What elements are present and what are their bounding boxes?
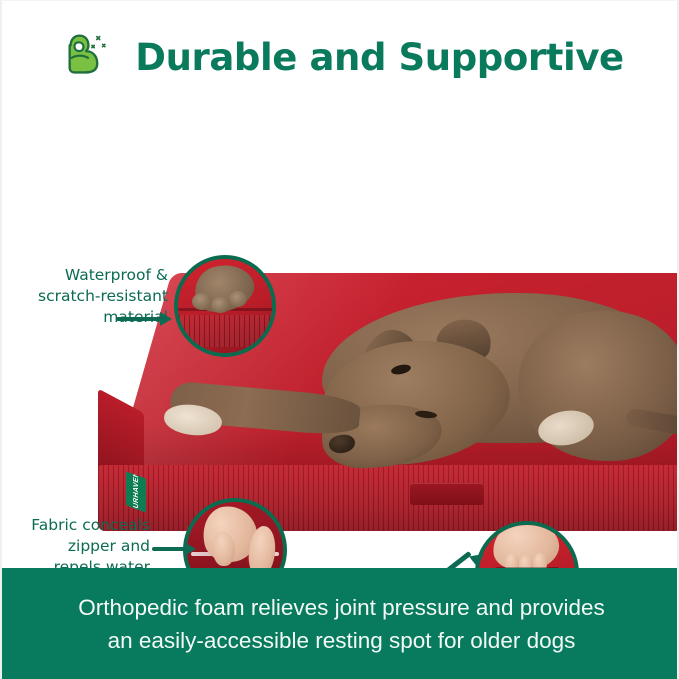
- arrow-shaft: [152, 547, 186, 551]
- callout-line: zipper and: [10, 536, 150, 557]
- inset-finger: [213, 532, 235, 566]
- brand-tag-label: FURHAVEN: [133, 471, 140, 512]
- header: Durable and Supportive: [2, 1, 679, 113]
- inset-paw-toe: [192, 293, 212, 310]
- flexed-bicep-icon: [59, 24, 121, 86]
- infographic-page: Durable and Supportive FURHAVEN: [0, 0, 679, 679]
- arrow-head: [184, 542, 196, 556]
- banner-line-2: an easily-accessible resting spot for ol…: [108, 624, 576, 657]
- callout-waterproof-arrow: [116, 311, 174, 327]
- product-photo: FURHAVEN: [2, 113, 679, 569]
- inset-paw-toe: [211, 297, 230, 313]
- page-title: Durable and Supportive: [135, 36, 624, 79]
- callout-zipper-arrow: [152, 541, 196, 557]
- brand-tag: FURHAVEN: [126, 471, 146, 512]
- inset-handle-closeup: [475, 521, 579, 569]
- callout-handle-arrow: [426, 555, 488, 569]
- callout-zipper-text: Fabric conceals zipper and repels water: [10, 515, 150, 569]
- bottom-banner: Orthopedic foam relieves joint pressure …: [2, 568, 679, 679]
- callout-line: Waterproof &: [16, 265, 168, 286]
- inset-zipper-closeup: [183, 498, 287, 569]
- banner-line-1: Orthopedic foam relieves joint pressure …: [78, 591, 605, 624]
- inset-rib-texture: [174, 315, 276, 347]
- inset-waterproof-closeup: [174, 255, 276, 357]
- arrow-shaft: [424, 551, 471, 569]
- arrow-shaft: [116, 317, 162, 321]
- arrow-head: [160, 312, 172, 326]
- inset-paw-toe: [229, 291, 247, 307]
- callout-line: scratch-resistant: [16, 286, 168, 307]
- callout-line: Fabric conceals: [10, 515, 150, 536]
